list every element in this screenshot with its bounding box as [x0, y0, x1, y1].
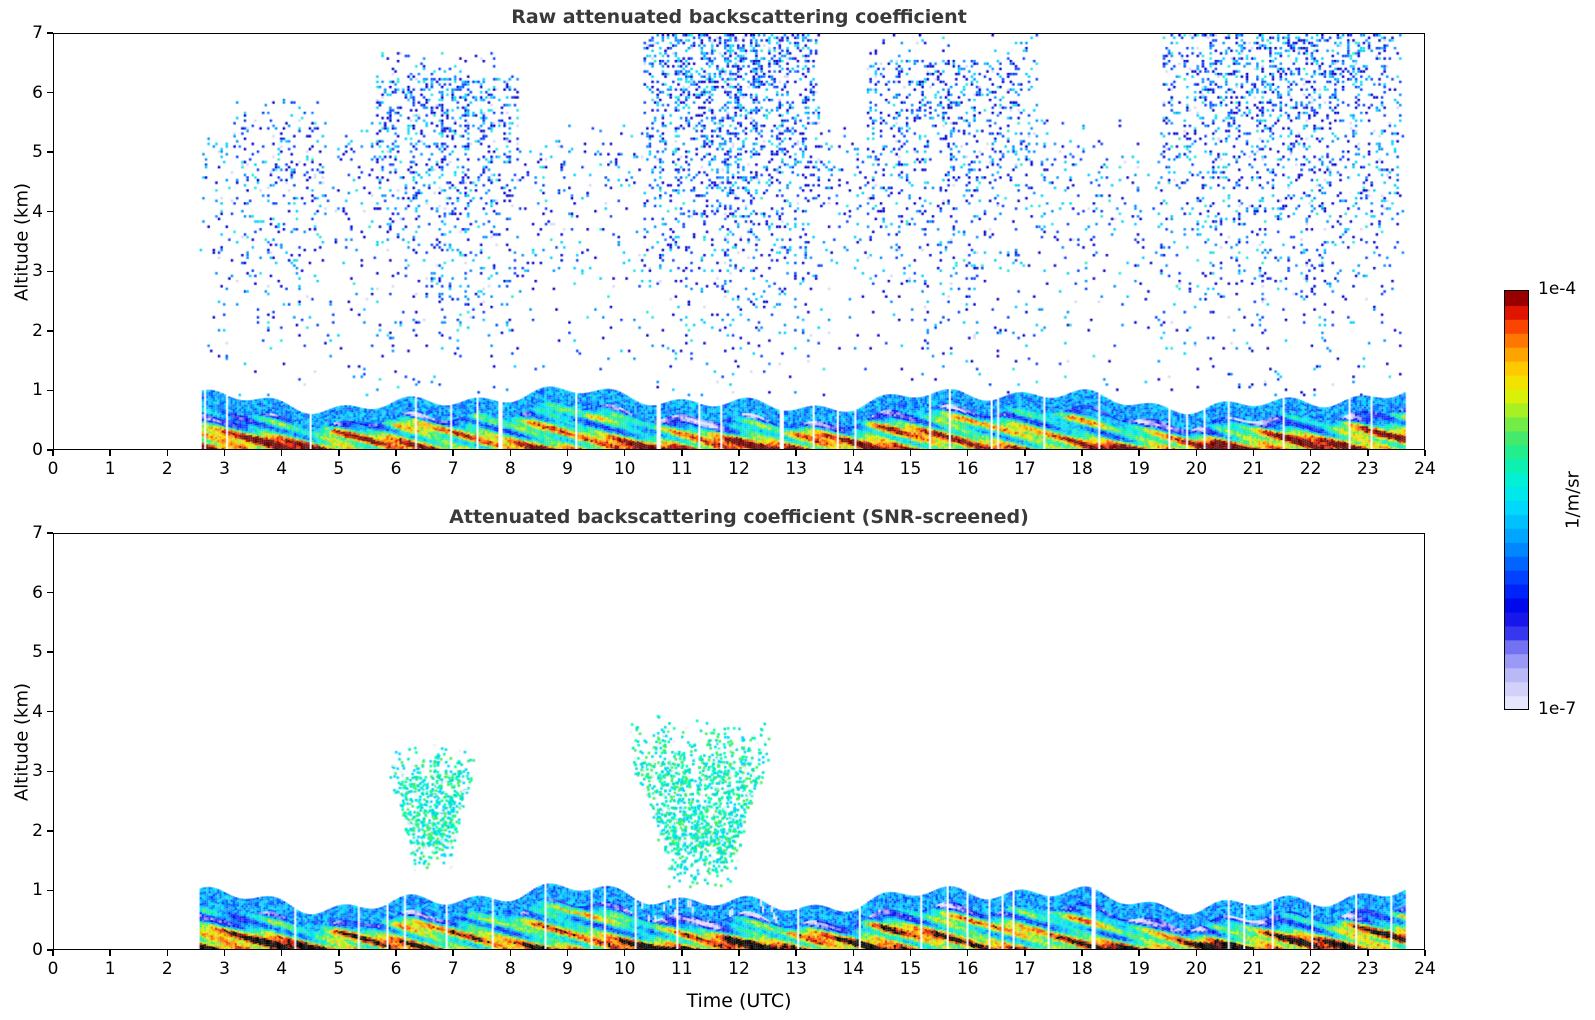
x-tick-snr_screened-7	[452, 950, 453, 956]
figure-canvas: Raw attenuated backscattering coefficien…	[0, 0, 1595, 1020]
x-tick-label-raw-0: 0	[48, 459, 59, 479]
x-tick-label-raw-19: 19	[1128, 459, 1150, 479]
x-tick-raw-5	[338, 450, 339, 456]
x-tick-label-snr_screened-10: 10	[614, 959, 636, 979]
x-tick-label-snr_screened-1: 1	[105, 959, 116, 979]
plot-area-snr_screened[interactable]	[53, 533, 1425, 950]
x-tick-label-raw-21: 21	[1243, 459, 1265, 479]
x-tick-label-snr_screened-21: 21	[1243, 959, 1265, 979]
x-tick-label-raw-8: 8	[505, 459, 516, 479]
y-tick-raw-6	[47, 92, 53, 93]
x-tick-raw-11	[681, 450, 682, 456]
x-tick-snr_screened-11	[681, 950, 682, 956]
x-tick-label-raw-23: 23	[1357, 459, 1379, 479]
x-tick-label-raw-22: 22	[1300, 459, 1322, 479]
colorbar[interactable]	[1504, 290, 1529, 710]
y-tick-snr_screened-1	[47, 890, 53, 891]
x-tick-label-snr_screened-11: 11	[671, 959, 693, 979]
x-tick-raw-15	[910, 450, 911, 456]
x-tick-label-raw-6: 6	[391, 459, 402, 479]
x-tick-label-raw-1: 1	[105, 459, 116, 479]
y-tick-raw-3	[47, 271, 53, 272]
y-tick-label-raw-2: 2	[32, 321, 43, 341]
y-tick-raw-4	[47, 211, 53, 212]
x-tick-label-snr_screened-6: 6	[391, 959, 402, 979]
x-tick-snr_screened-10	[624, 950, 625, 956]
x-tick-label-snr_screened-18: 18	[1071, 959, 1093, 979]
x-tick-raw-19	[1138, 450, 1139, 456]
x-tick-snr_screened-12	[738, 950, 739, 956]
x-tick-raw-7	[452, 450, 453, 456]
y-tick-label-raw-4: 4	[32, 202, 43, 222]
x-tick-snr_screened-5	[338, 950, 339, 956]
x-tick-raw-4	[281, 450, 282, 456]
x-tick-label-snr_screened-3: 3	[219, 959, 230, 979]
y-tick-snr_screened-2	[47, 830, 53, 831]
y-tick-label-snr_screened-5: 5	[32, 642, 43, 662]
x-tick-label-snr_screened-0: 0	[48, 959, 59, 979]
x-tick-raw-8	[510, 450, 511, 456]
y-tick-label-snr_screened-6: 6	[32, 583, 43, 603]
x-tick-raw-9	[567, 450, 568, 456]
x-tick-raw-10	[624, 450, 625, 456]
x-tick-label-raw-10: 10	[614, 459, 636, 479]
x-tick-snr_screened-4	[281, 950, 282, 956]
x-tick-raw-16	[967, 450, 968, 456]
x-tick-snr_screened-8	[510, 950, 511, 956]
x-tick-label-raw-2: 2	[162, 459, 173, 479]
colorbar-gradient	[1505, 291, 1528, 709]
x-tick-label-snr_screened-15: 15	[900, 959, 922, 979]
x-tick-label-raw-14: 14	[843, 459, 865, 479]
x-tick-raw-2	[167, 450, 168, 456]
x-tick-snr_screened-3	[224, 950, 225, 956]
x-tick-raw-24	[1424, 450, 1425, 456]
x-tick-label-snr_screened-13: 13	[785, 959, 807, 979]
y-tick-snr_screened-7	[47, 532, 53, 533]
x-tick-snr_screened-13	[795, 950, 796, 956]
x-tick-label-snr_screened-24: 24	[1414, 959, 1436, 979]
x-tick-label-snr_screened-22: 22	[1300, 959, 1322, 979]
y-tick-label-raw-3: 3	[32, 261, 43, 281]
y-tick-label-snr_screened-7: 7	[32, 523, 43, 543]
x-tick-raw-13	[795, 450, 796, 456]
x-tick-snr_screened-24	[1424, 950, 1425, 956]
y-axis-label-snr_screened: Altitude (km)	[12, 682, 33, 800]
x-tick-label-snr_screened-23: 23	[1357, 959, 1379, 979]
x-tick-label-snr_screened-2: 2	[162, 959, 173, 979]
x-tick-label-raw-3: 3	[219, 459, 230, 479]
panel-title-snr_screened: Attenuated backscattering coefficient (S…	[53, 506, 1425, 528]
x-tick-label-snr_screened-8: 8	[505, 959, 516, 979]
x-tick-raw-12	[738, 450, 739, 456]
x-tick-label-snr_screened-5: 5	[333, 959, 344, 979]
colorbar-min-label: 1e-7	[1538, 699, 1576, 719]
y-tick-label-raw-6: 6	[32, 83, 43, 103]
x-tick-label-raw-11: 11	[671, 459, 693, 479]
colorbar-max-label: 1e-4	[1538, 279, 1576, 299]
x-tick-label-snr_screened-9: 9	[562, 959, 573, 979]
x-tick-snr_screened-0	[52, 950, 53, 956]
x-tick-raw-17	[1024, 450, 1025, 456]
x-axis-label-snr_screened: Time (UTC)	[686, 990, 791, 1012]
heatmap-canvas-snr_screened	[54, 534, 1424, 949]
x-tick-raw-23	[1367, 450, 1368, 456]
y-tick-label-snr_screened-2: 2	[32, 821, 43, 841]
x-tick-snr_screened-9	[567, 950, 568, 956]
x-tick-raw-6	[395, 450, 396, 456]
x-tick-label-raw-13: 13	[785, 459, 807, 479]
y-tick-snr_screened-6	[47, 592, 53, 593]
x-tick-snr_screened-6	[395, 950, 396, 956]
x-tick-label-snr_screened-17: 17	[1014, 959, 1036, 979]
y-tick-raw-5	[47, 151, 53, 152]
x-tick-label-raw-18: 18	[1071, 459, 1093, 479]
x-tick-raw-14	[853, 450, 854, 456]
x-tick-raw-3	[224, 450, 225, 456]
y-tick-label-raw-5: 5	[32, 142, 43, 162]
x-tick-label-raw-17: 17	[1014, 459, 1036, 479]
x-tick-label-snr_screened-14: 14	[843, 959, 865, 979]
x-tick-snr_screened-16	[967, 950, 968, 956]
x-tick-label-raw-9: 9	[562, 459, 573, 479]
y-tick-raw-1	[47, 390, 53, 391]
x-tick-label-snr_screened-4: 4	[276, 959, 287, 979]
x-tick-label-snr_screened-7: 7	[448, 959, 459, 979]
y-tick-label-raw-1: 1	[32, 380, 43, 400]
x-tick-snr_screened-1	[109, 950, 110, 956]
x-tick-label-raw-12: 12	[728, 459, 750, 479]
x-tick-snr_screened-19	[1138, 950, 1139, 956]
x-tick-snr_screened-20	[1196, 950, 1197, 956]
x-tick-label-raw-15: 15	[900, 459, 922, 479]
x-tick-snr_screened-23	[1367, 950, 1368, 956]
y-tick-snr_screened-4	[47, 711, 53, 712]
x-tick-snr_screened-21	[1253, 950, 1254, 956]
x-tick-label-raw-24: 24	[1414, 459, 1436, 479]
x-tick-label-raw-16: 16	[957, 459, 979, 479]
x-tick-snr_screened-2	[167, 950, 168, 956]
panel-title-raw: Raw attenuated backscattering coefficien…	[53, 6, 1425, 28]
y-axis-label-raw: Altitude (km)	[12, 182, 33, 300]
x-tick-label-snr_screened-20: 20	[1186, 959, 1208, 979]
x-tick-label-raw-7: 7	[448, 459, 459, 479]
x-tick-snr_screened-14	[853, 950, 854, 956]
x-tick-raw-22	[1310, 450, 1311, 456]
x-tick-label-raw-4: 4	[276, 459, 287, 479]
x-tick-snr_screened-15	[910, 950, 911, 956]
x-tick-raw-1	[109, 450, 110, 456]
y-tick-snr_screened-3	[47, 771, 53, 772]
x-tick-snr_screened-22	[1310, 950, 1311, 956]
x-tick-label-snr_screened-16: 16	[957, 959, 979, 979]
x-tick-snr_screened-18	[1081, 950, 1082, 956]
y-tick-snr_screened-5	[47, 651, 53, 652]
y-tick-raw-2	[47, 330, 53, 331]
x-tick-label-raw-20: 20	[1186, 459, 1208, 479]
y-tick-label-raw-7: 7	[32, 23, 43, 43]
heatmap-canvas-raw	[54, 34, 1424, 449]
x-tick-label-snr_screened-19: 19	[1128, 959, 1150, 979]
x-tick-raw-20	[1196, 450, 1197, 456]
y-tick-label-snr_screened-3: 3	[32, 761, 43, 781]
x-tick-raw-21	[1253, 450, 1254, 456]
x-tick-label-snr_screened-12: 12	[728, 959, 750, 979]
y-tick-label-raw-0: 0	[32, 440, 43, 460]
y-tick-label-snr_screened-0: 0	[32, 940, 43, 960]
plot-area-raw[interactable]	[53, 33, 1425, 450]
x-tick-raw-18	[1081, 450, 1082, 456]
y-tick-raw-7	[47, 32, 53, 33]
y-tick-label-snr_screened-4: 4	[32, 702, 43, 722]
colorbar-label: 1/m/sr	[1563, 471, 1584, 529]
x-tick-label-raw-5: 5	[333, 459, 344, 479]
y-tick-label-snr_screened-1: 1	[32, 880, 43, 900]
x-tick-snr_screened-17	[1024, 950, 1025, 956]
x-tick-raw-0	[52, 450, 53, 456]
